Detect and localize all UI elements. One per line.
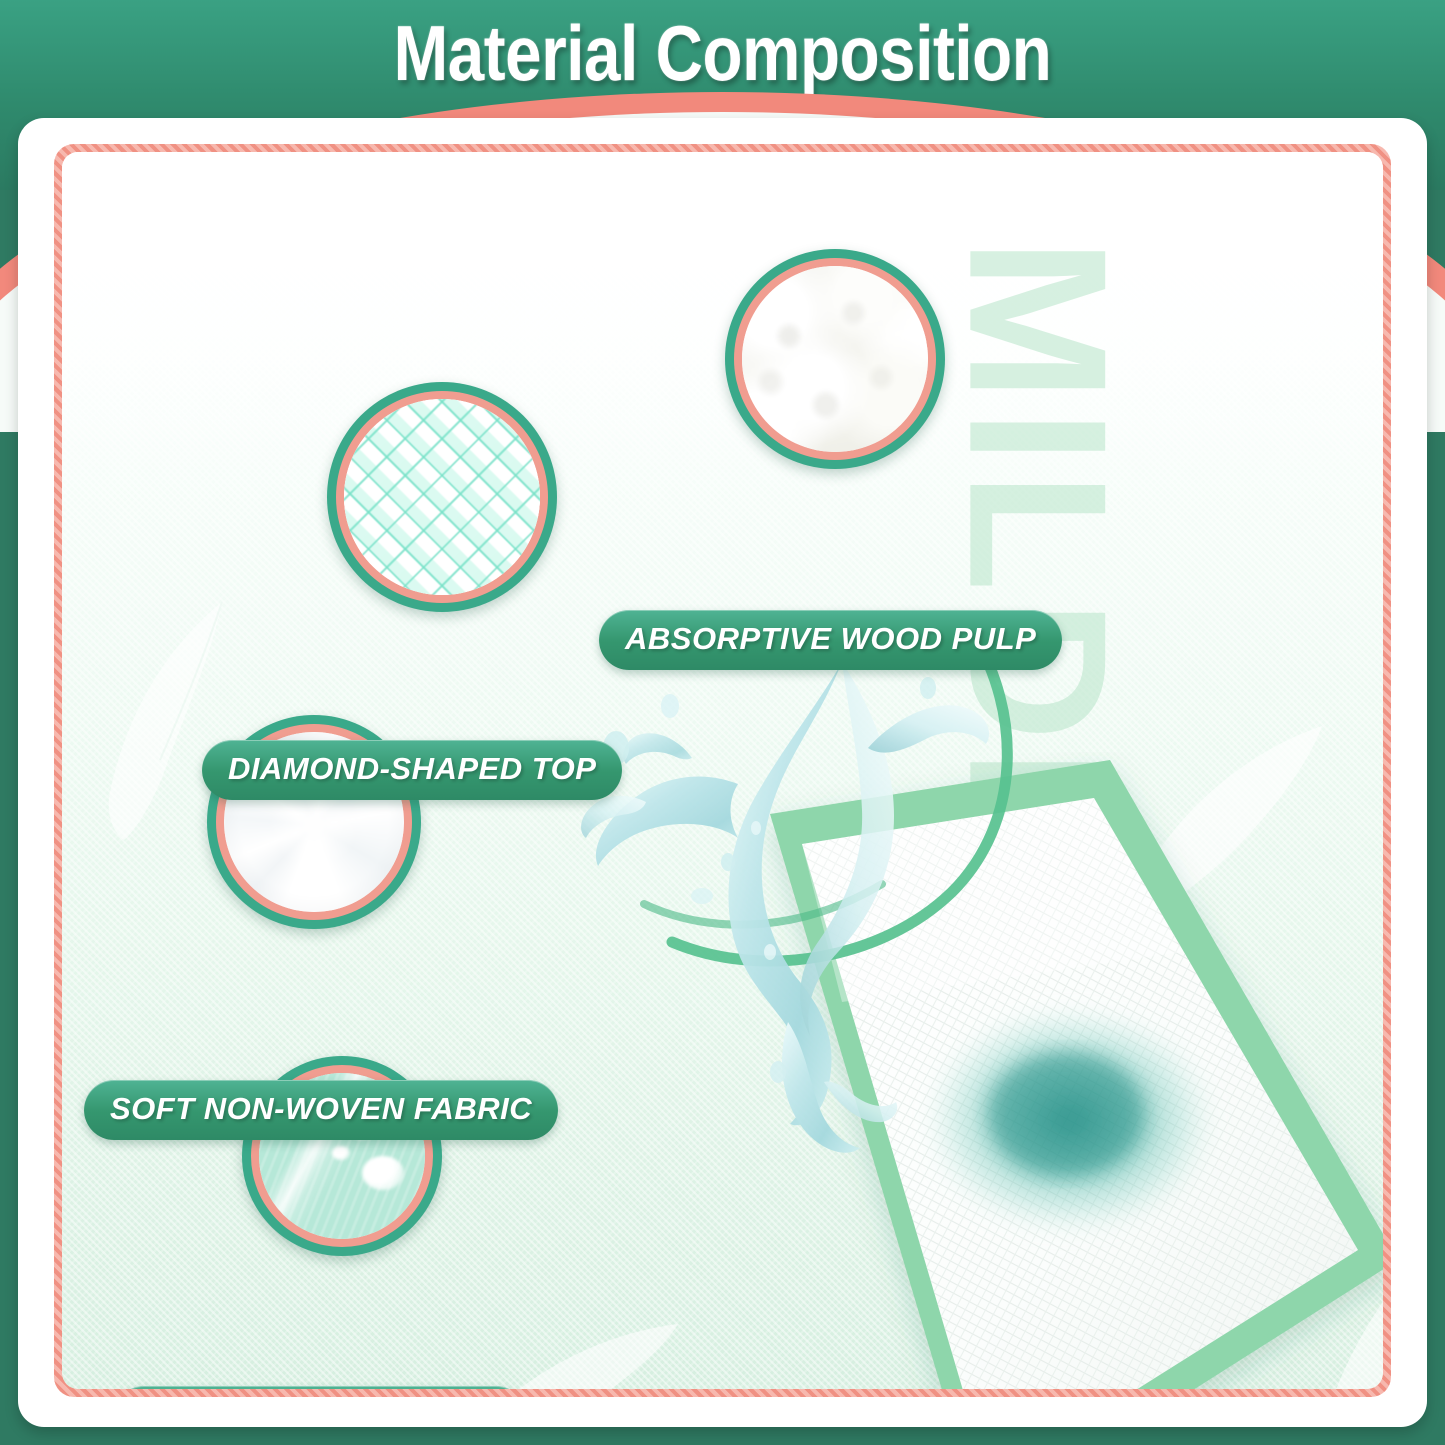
feather-icon (1122, 712, 1342, 942)
diamond-quilt-photo (344, 399, 540, 595)
feather-icon (462, 1302, 692, 1389)
feather-icon (1292, 1212, 1383, 1389)
water-droplet-icon (332, 1146, 350, 1160)
water-droplet-icon (362, 1156, 404, 1190)
brand-watermark: MILDPLUS (926, 238, 1151, 1304)
infographic-canvas: Material Composition MILDPLUS (0, 0, 1445, 1445)
content-card: MILDPLUS (18, 118, 1427, 1427)
label-absorptive-wood-pulp[interactable]: ABSORPTIVE WOOD PULP (599, 610, 1062, 670)
wood-pulp-photo (742, 266, 928, 452)
top-white-fade (62, 152, 1383, 482)
label-diamond-shaped-top[interactable]: DIAMOND-SHAPED TOP (202, 740, 622, 800)
label-soft-non-woven-fabric[interactable]: SOFT NON-WOVEN FABRIC (84, 1080, 558, 1140)
underpad-product (482, 752, 1383, 1389)
swatch-absorptive-wood-pulp[interactable] (725, 249, 945, 469)
swatch-diamond-shaped-top[interactable] (327, 382, 557, 612)
label-waterproof-pe-film[interactable]: WATERPROOF PE FILM (114, 1386, 526, 1389)
water-splash-graphic (542, 652, 1102, 1172)
card-body: MILDPLUS (62, 152, 1383, 1389)
page-title: Material Composition (116, 14, 1330, 92)
feather-icon (1102, 1082, 1312, 1372)
